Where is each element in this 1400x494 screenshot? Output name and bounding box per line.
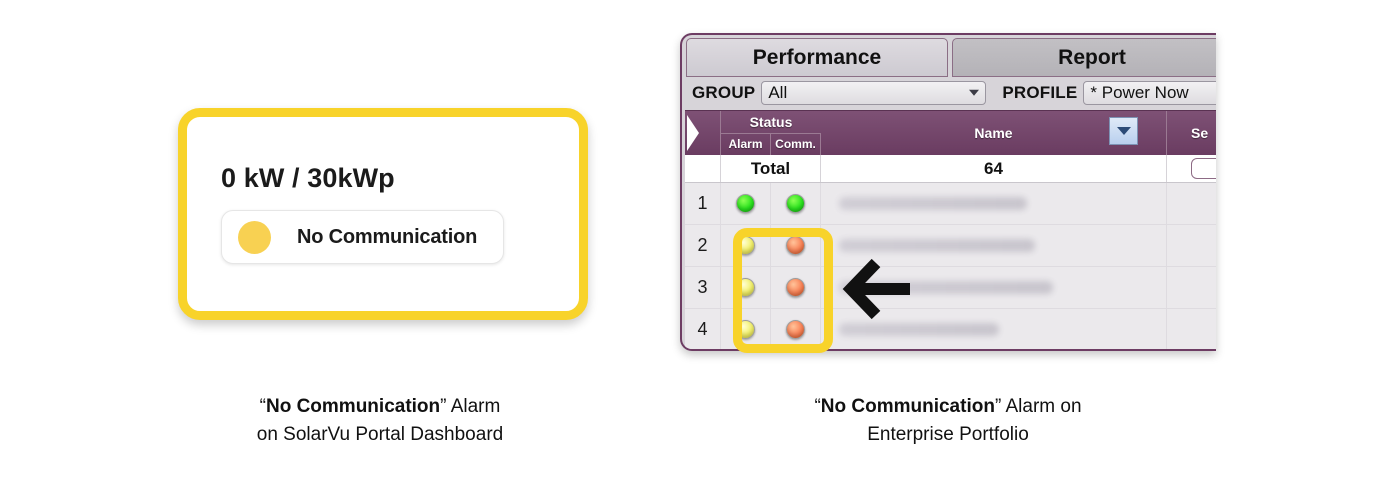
filter-bar: GROUP All PROFILE * Power Now <box>682 77 1216 109</box>
expand-arrow-icon[interactable] <box>685 111 721 155</box>
tab-report[interactable]: Report <box>952 38 1216 77</box>
alarm-led-yellow-icon <box>736 320 755 339</box>
screenshot-stage: 0 kW / 30kWp No Communication Performanc… <box>0 0 1400 494</box>
group-label: GROUP <box>692 83 755 103</box>
row-index-cell: 4 <box>685 309 721 350</box>
table-row[interactable]: 3 <box>685 267 1216 309</box>
total-row-select-cell <box>1167 155 1216 182</box>
caption-left-line1-after: Alarm <box>446 396 500 417</box>
status-header-group: Status Alarm Comm. <box>721 111 821 155</box>
alarm-led-yellow-icon <box>736 236 755 255</box>
caption-right-line1-after: Alarm on <box>1001 396 1081 417</box>
select-column-header[interactable]: Se <box>1167 111 1216 155</box>
yellow-status-dot-icon <box>238 221 271 254</box>
select-cell[interactable] <box>1167 183 1216 224</box>
total-row-spacer <box>685 155 721 182</box>
select-cell[interactable] <box>1167 267 1216 308</box>
select-cell[interactable] <box>1167 225 1216 266</box>
alarm-column-header[interactable]: Alarm <box>721 134 771 156</box>
alarm-status-cell[interactable] <box>721 225 771 266</box>
comm-led-orange-icon <box>786 320 805 339</box>
total-row-count: 64 <box>821 155 1167 182</box>
row-index-cell: 1 <box>685 183 721 224</box>
comm-status-cell[interactable] <box>771 225 821 266</box>
alarm-status-cell[interactable] <box>721 309 771 350</box>
select-cell[interactable] <box>1167 309 1216 350</box>
caption-left-quoted: No Communication <box>266 396 440 417</box>
caption-right-quoted: No Communication <box>821 396 995 417</box>
profile-label: PROFILE <box>1002 83 1077 103</box>
comm-led-orange-icon <box>786 236 805 255</box>
profile-select-value: * Power Now <box>1090 83 1188 103</box>
caption-right-line2: Enterprise Portfolio <box>728 421 1168 449</box>
table-header-row: Status Alarm Comm. Name Se <box>685 110 1216 155</box>
total-row: Total 64 <box>685 155 1216 183</box>
caption-right-line1: “No Communication” Alarm on <box>728 393 1168 421</box>
caption-right: “No Communication” Alarm on Enterprise P… <box>728 393 1168 448</box>
tab-performance[interactable]: Performance <box>686 38 948 77</box>
redacted-site-name <box>839 197 1027 210</box>
comm-status-cell[interactable] <box>771 309 821 350</box>
comm-led-green-icon <box>786 194 805 213</box>
name-column-header-label: Name <box>974 125 1012 141</box>
redacted-site-name <box>839 323 999 336</box>
alarm-status-cell[interactable] <box>721 183 771 224</box>
comm-status-cell[interactable] <box>771 267 821 308</box>
portfolio-table: Status Alarm Comm. Name Se <box>685 110 1216 351</box>
caption-left-line2: on SolarVu Portal Dashboard <box>160 421 600 449</box>
table-row[interactable]: 2 <box>685 225 1216 267</box>
alarm-led-green-icon <box>736 194 755 213</box>
panel-tabbar: Performance Report <box>686 38 1216 77</box>
comm-led-orange-icon <box>786 278 805 297</box>
total-row-label: Total <box>721 155 821 182</box>
profile-select[interactable]: * Power Now <box>1083 81 1216 105</box>
caption-left-line1: “No Communication” Alarm <box>160 393 600 421</box>
solarvu-dashboard-card: 0 kW / 30kWp No Communication <box>178 108 588 320</box>
chevron-down-icon <box>1117 127 1131 135</box>
comm-column-header[interactable]: Comm. <box>771 134 821 156</box>
group-select-value: All <box>768 83 787 103</box>
power-readout: 0 kW / 30kWp <box>221 165 579 192</box>
status-pill-label: No Communication <box>297 226 477 249</box>
caption-left: “No Communication” Alarm on SolarVu Port… <box>160 393 600 448</box>
select-all-field[interactable] <box>1191 158 1216 179</box>
group-select[interactable]: All <box>761 81 986 105</box>
row-index-header <box>685 111 721 155</box>
comm-status-cell[interactable] <box>771 183 821 224</box>
site-name-cell[interactable] <box>821 183 1167 224</box>
left-arrow-annotation-icon <box>842 258 914 320</box>
table-row[interactable]: 1 <box>685 183 1216 225</box>
dashboard-card-content: 0 kW / 30kWp No Communication <box>187 117 579 311</box>
name-column-header[interactable]: Name <box>821 111 1167 155</box>
table-row[interactable]: 4 <box>685 309 1216 351</box>
alarm-led-yellow-icon <box>736 278 755 297</box>
status-header-label: Status <box>721 111 821 134</box>
row-index-cell: 3 <box>685 267 721 308</box>
redacted-site-name <box>839 239 1035 252</box>
row-index-cell: 2 <box>685 225 721 266</box>
no-communication-status-pill[interactable]: No Communication <box>221 210 504 264</box>
name-sort-button[interactable] <box>1109 117 1138 145</box>
table-body: 1234 <box>685 183 1216 351</box>
enterprise-portfolio-panel: Performance Report GROUP All PROFILE * P… <box>680 33 1216 351</box>
alarm-status-cell[interactable] <box>721 267 771 308</box>
chevron-down-icon <box>969 90 979 96</box>
yellow-highlight-box-dashboard: 0 kW / 30kWp No Communication <box>178 108 588 320</box>
